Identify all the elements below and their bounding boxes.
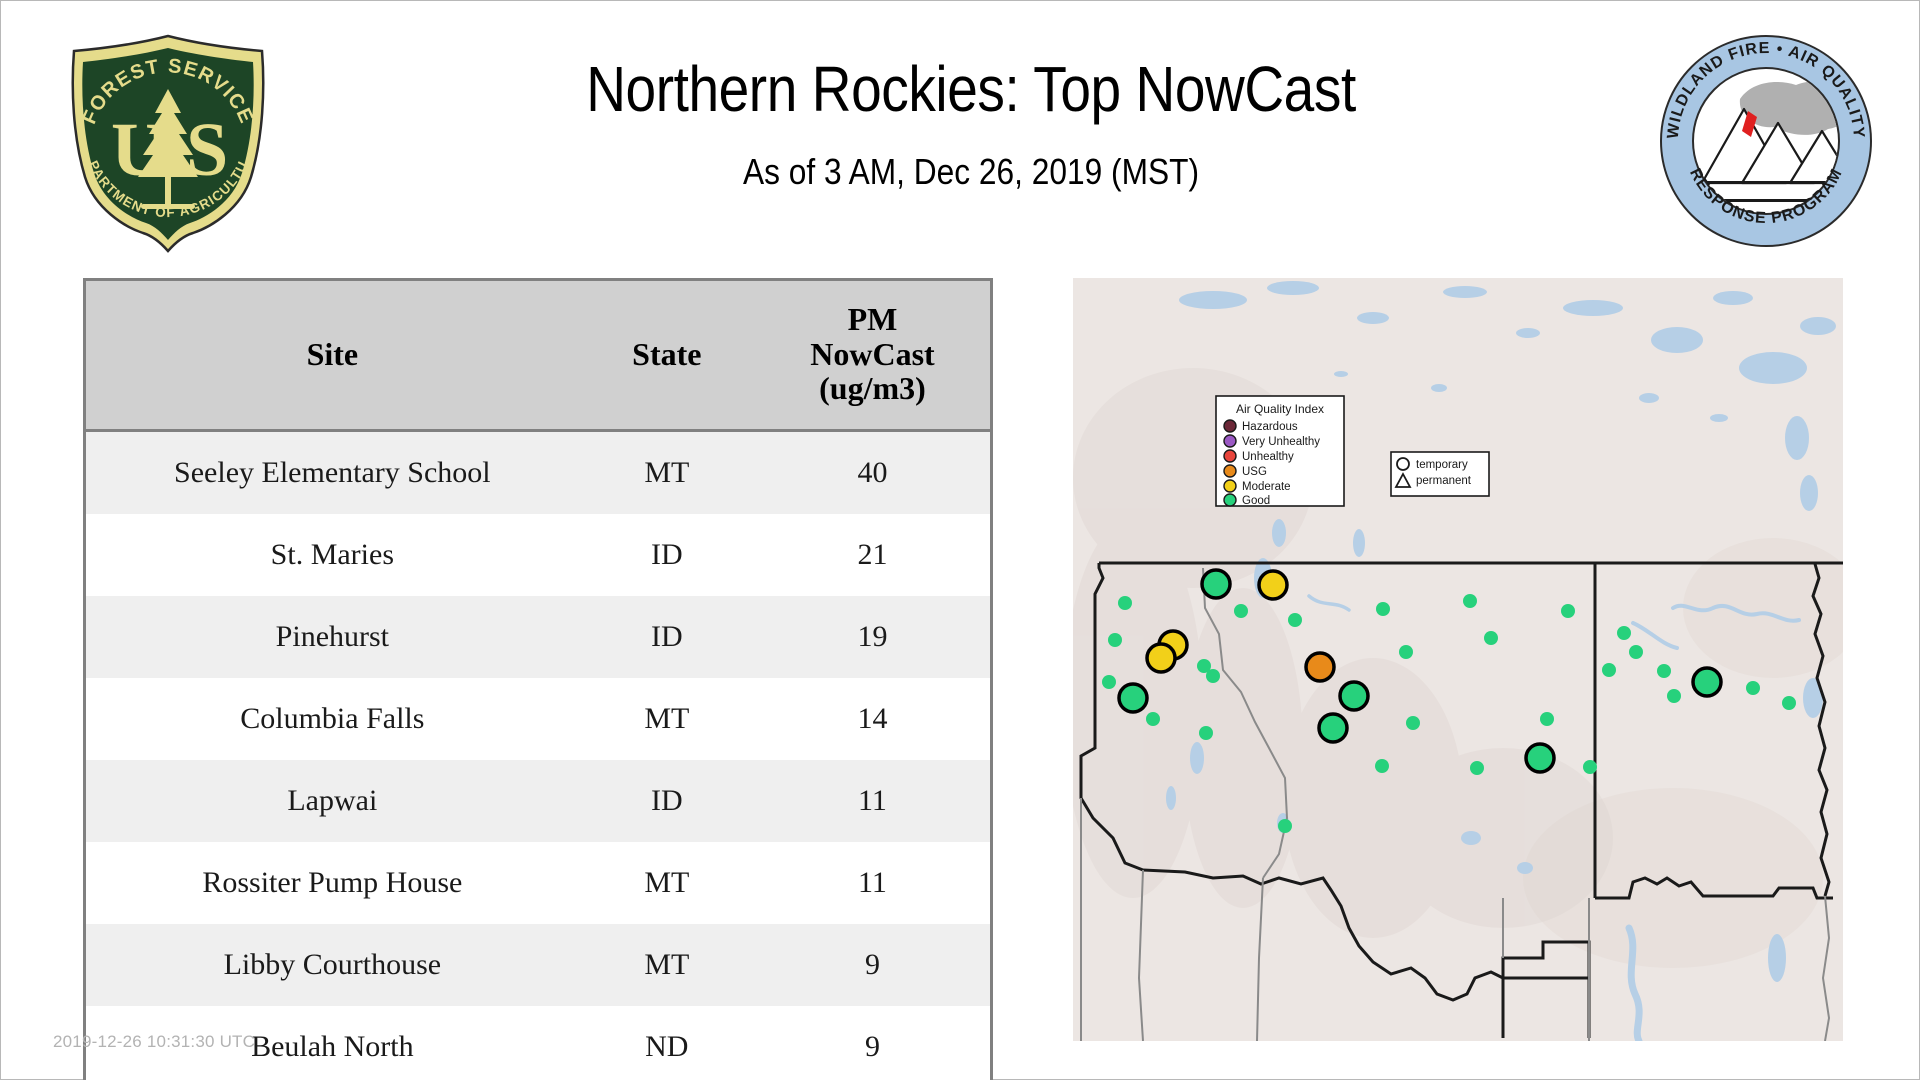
monitor-marker-moderate xyxy=(1259,571,1287,599)
table-row: Columbia Falls MT 14 xyxy=(86,678,990,760)
cell-pm: 19 xyxy=(755,596,990,678)
wfaqrp-circular-logo: WILDLAND FIRE • AIR QUALITY RESPONSE PRO… xyxy=(1656,31,1876,251)
aqi-legend: Air Quality Index Hazardous Very Unhealt… xyxy=(1216,396,1344,507)
cell-site: Rossiter Pump House xyxy=(86,842,579,924)
cell-site: Seeley Elementary School xyxy=(86,431,579,515)
cell-state: ID xyxy=(579,514,755,596)
cell-pm: 9 xyxy=(755,924,990,1006)
cell-site: Libby Courthouse xyxy=(86,924,579,1006)
title-block: Northern Rockies: Top NowCast As of 3 AM… xyxy=(301,56,1641,193)
cell-pm: 21 xyxy=(755,514,990,596)
cell-site: Lapwai xyxy=(86,760,579,842)
cell-state: MT xyxy=(579,842,755,924)
cell-state: MT xyxy=(579,431,755,515)
monitor-legend-label-permanent: permanent xyxy=(1416,475,1472,487)
cell-pm: 11 xyxy=(755,842,990,924)
aqi-legend-label-moderate: Moderate xyxy=(1242,481,1291,493)
monitor-legend-label-temporary: temporary xyxy=(1416,459,1468,471)
aqi-legend-label-hazardous: Hazardous xyxy=(1242,421,1298,433)
column-header-site: Site xyxy=(86,281,579,431)
cell-site: Columbia Falls xyxy=(86,678,579,760)
table-row: Lapwai ID 11 xyxy=(86,760,990,842)
cell-state: ND xyxy=(579,1006,755,1080)
monitor-marker-good xyxy=(1202,570,1230,598)
timestamp-label: 2019-12-26 10:31:30 UTC xyxy=(53,1032,255,1052)
slide-page: FOREST SERVICE DEPARTMENT OF AGRICULTURE… xyxy=(0,0,1920,1080)
column-header-state: State xyxy=(579,281,755,431)
monitor-marker-usg xyxy=(1306,653,1334,681)
cell-pm: 11 xyxy=(755,760,990,842)
column-header-pm-nowcast: PM NowCast (ug/m3) xyxy=(755,281,990,431)
table-row: Pinehurst ID 19 xyxy=(86,596,990,678)
cell-site: St. Maries xyxy=(86,514,579,596)
cell-pm: 9 xyxy=(755,1006,990,1080)
table-row: St. Maries ID 21 xyxy=(86,514,990,596)
cell-state: ID xyxy=(579,596,755,678)
monitor-marker-good xyxy=(1526,744,1554,772)
table-header-row: Site State PM NowCast (ug/m3) xyxy=(86,281,990,431)
monitor-marker-good xyxy=(1119,684,1147,712)
table-row: Rossiter Pump House MT 11 xyxy=(86,842,990,924)
aqi-legend-label-good: Good xyxy=(1242,495,1270,507)
aqi-legend-label-usg: USG xyxy=(1242,466,1267,478)
usfs-letter-s: S xyxy=(186,108,228,192)
table-row: Seeley Elementary School MT 40 xyxy=(86,431,990,515)
aqi-legend-title: Air Quality Index xyxy=(1236,402,1324,416)
cell-pm: 40 xyxy=(755,431,990,515)
monitor-marker-good xyxy=(1693,668,1721,696)
monitor-type-legend: temporary permanent xyxy=(1391,452,1489,496)
page-subtitle: As of 3 AM, Dec 26, 2019 (MST) xyxy=(381,151,1560,193)
cell-state: ID xyxy=(579,760,755,842)
nowcast-table: Site State PM NowCast (ug/m3) Seeley Ele… xyxy=(86,281,990,1080)
cell-state: MT xyxy=(579,678,755,760)
monitor-marker-good xyxy=(1340,682,1368,710)
cell-state: MT xyxy=(579,924,755,1006)
table-row: Libby Courthouse MT 9 xyxy=(86,924,990,1006)
monitor-marker-moderate xyxy=(1147,644,1175,672)
aqi-legend-label-very-unhealthy: Very Unhealthy xyxy=(1242,436,1320,448)
aqi-legend-label-unhealthy: Unhealthy xyxy=(1242,451,1294,463)
monitor-marker-good xyxy=(1319,714,1347,742)
usfs-shield-logo: FOREST SERVICE DEPARTMENT OF AGRICULTURE… xyxy=(53,27,283,257)
nowcast-table-container: Site State PM NowCast (ug/m3) Seeley Ele… xyxy=(83,278,993,1080)
air-quality-map[interactable]: Air Quality Index Hazardous Very Unhealt… xyxy=(1073,278,1843,1041)
cell-site: Pinehurst xyxy=(86,596,579,678)
page-title: Northern Rockies: Top NowCast xyxy=(395,56,1547,123)
cell-pm: 14 xyxy=(755,678,990,760)
